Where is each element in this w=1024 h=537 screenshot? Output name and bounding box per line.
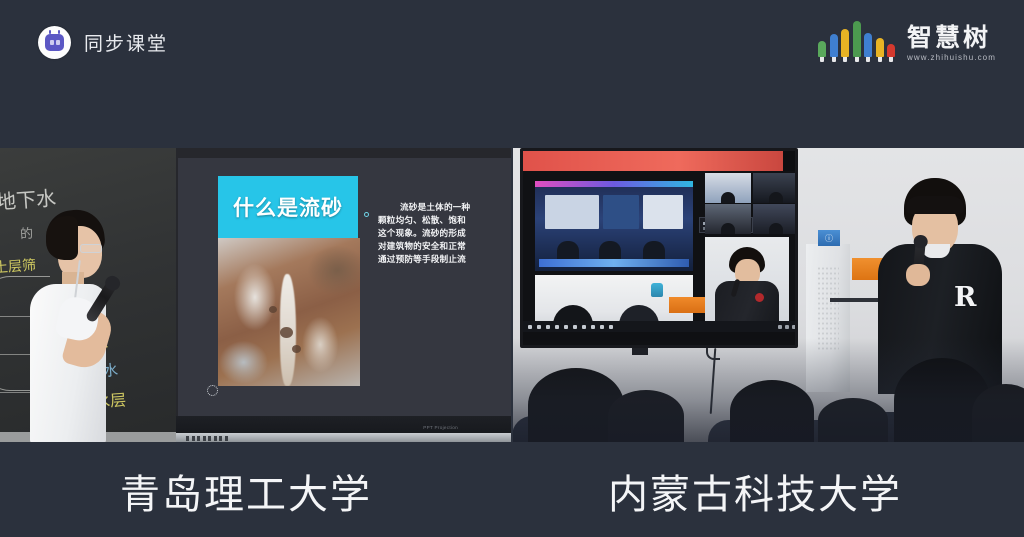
brand-left: 同步课堂 xyxy=(38,26,168,59)
presenter-hand xyxy=(906,264,930,286)
quicksand-photo xyxy=(218,238,360,386)
page-title: 同步课堂 xyxy=(84,29,168,56)
screen-tray xyxy=(176,433,512,442)
hollow-circle-bullet-icon xyxy=(364,212,369,217)
tv-conference-grid: 内蒙古科技大学 xyxy=(523,171,798,329)
tile-window xyxy=(603,195,639,229)
tray-icons xyxy=(186,436,228,441)
tile-silhouette xyxy=(599,241,621,259)
mascot-eyes xyxy=(49,39,61,47)
photo-rock xyxy=(269,306,277,313)
speaker-badge xyxy=(755,293,764,302)
partner-url: www.zhihuishu.com xyxy=(907,53,996,62)
app-header: 同步课堂 智慧树 www.zhihuishu.com xyxy=(0,0,1024,148)
conference-thumbnail xyxy=(753,204,798,234)
slide-body-line: 对建筑物的安全和正常 xyxy=(378,241,512,254)
water-bottle xyxy=(651,283,663,297)
slide-body-line: 颗粒均匀、松散、饱和 xyxy=(378,215,512,228)
partner-logo: 智慧树 www.zhihuishu.com xyxy=(818,22,996,62)
pane-divider xyxy=(511,148,513,442)
right-university-label: 内蒙古科技大学 xyxy=(608,462,902,520)
logo-bar xyxy=(818,41,826,62)
taskbar-tray xyxy=(778,325,796,329)
local-presenter xyxy=(12,206,120,442)
left-university-label: 青岛理工大学 xyxy=(120,462,372,520)
bar-chart-logo-icon xyxy=(818,22,895,62)
tile-window xyxy=(643,195,683,229)
mascot-face xyxy=(45,34,64,51)
settings-dotted-circle-icon xyxy=(207,385,218,396)
logo-bar xyxy=(876,38,884,62)
tile-silhouette xyxy=(557,241,579,259)
conference-thumbnail xyxy=(705,173,751,203)
tile-desk xyxy=(539,259,689,267)
windows-taskbar xyxy=(523,321,798,332)
owl-mascot-icon xyxy=(38,26,71,59)
presenter-glasses xyxy=(80,244,102,253)
tile-silhouette xyxy=(643,241,665,259)
info-sign-icon: ⓘ xyxy=(818,230,840,246)
slide-body-line: 通过预防等手段制止流 xyxy=(378,254,512,267)
slide-title-bubble: 什么是流砂 xyxy=(218,176,358,238)
presentation-slide: 什么是流砂 流砂是土体的一种 颗粒均匀、松散、饱和 这个现象。流砂的形成 xyxy=(178,158,512,416)
partner-name: 智慧树 xyxy=(907,25,991,51)
tile-window xyxy=(545,195,599,229)
photo-rock xyxy=(292,345,301,353)
logo-bar xyxy=(887,44,895,62)
orange-panel xyxy=(669,297,705,313)
dual-video-stage: 地下水 的 土层筛 上滞 隔水 止水 含水层 什么是流砂 xyxy=(0,148,1024,442)
hoodie-letter: R xyxy=(954,282,976,313)
room-shadow-overlay xyxy=(512,338,1024,442)
slide-body-text: 流砂是土体的一种 颗粒均匀、松散、饱和 这个现象。流砂的形成 对建筑物的安全和正… xyxy=(378,202,512,267)
slide-title-text: 什么是流砂 xyxy=(233,192,343,222)
conference-thumbnail xyxy=(705,204,751,234)
sync-classroom-app: 同步课堂 智慧树 www.zhihuishu.com xyxy=(0,0,1024,537)
tile-header-strip xyxy=(535,181,693,187)
conference-tile-main xyxy=(535,181,693,271)
slide-body-line: 这个现象。流砂的形成 xyxy=(378,228,512,241)
tv-banner xyxy=(523,151,783,171)
logo-bar xyxy=(841,29,849,62)
logo-bar xyxy=(830,34,838,62)
conference-thumbnail xyxy=(753,173,798,203)
partner-wordmark: 智慧树 www.zhihuishu.com xyxy=(907,25,996,62)
presenter-hair-side xyxy=(46,216,78,260)
projection-screen: 什么是流砂 流砂是土体的一种 颗粒均匀、松散、饱和 这个现象。流砂的形成 xyxy=(176,148,512,442)
slide-body-line: 流砂是土体的一种 xyxy=(400,203,470,213)
logo-bar xyxy=(853,21,861,62)
logo-bar xyxy=(864,33,872,62)
screen-watermark: PPT Projection xyxy=(423,425,458,430)
footer-labels: 青岛理工大学 内蒙古科技大学 xyxy=(0,442,1024,537)
presenter-fringe xyxy=(906,196,964,214)
remote-tv-display: 内蒙古科技大学 xyxy=(520,148,798,348)
video-pane-local[interactable]: 地下水 的 土层筛 上滞 隔水 止水 含水层 什么是流砂 xyxy=(0,148,512,442)
video-pane-remote[interactable]: 内蒙古科技大学 ⓘ xyxy=(512,148,1024,442)
conference-thumbnail-strip xyxy=(703,171,798,235)
presenter-collar xyxy=(922,244,950,258)
